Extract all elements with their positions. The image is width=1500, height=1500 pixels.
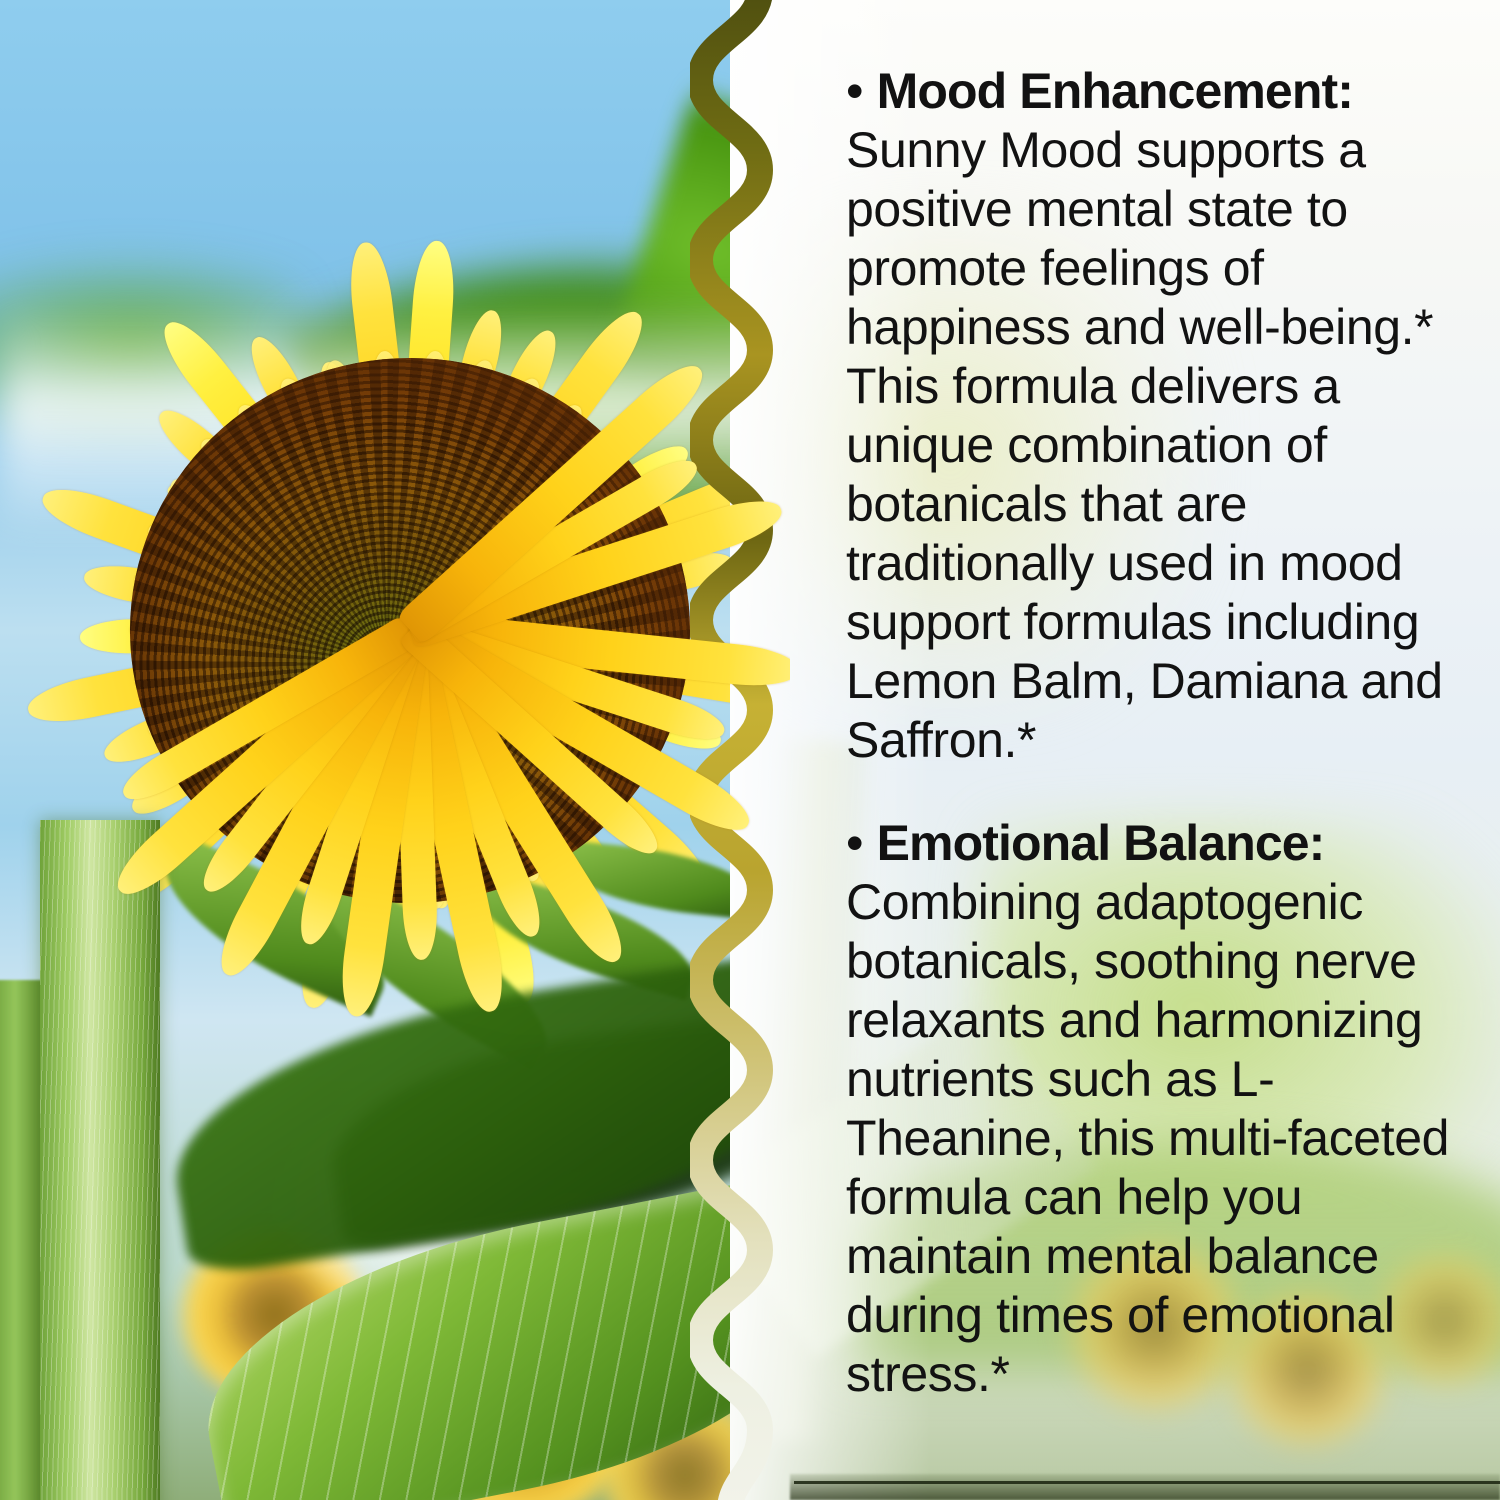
benefit-heading-separator: : — [1309, 815, 1325, 871]
product-benefits-image: • Mood Enhancement: Sunny Mood supports … — [0, 0, 1500, 1500]
benefit-heading: Emotional Balance — [877, 815, 1309, 871]
benefit-heading: Mood Enhancement — [877, 63, 1338, 119]
benefit-body: Sunny Mood supports a positive mental st… — [846, 122, 1443, 768]
benefit-paragraph: • Mood Enhancement: Sunny Mood supports … — [846, 62, 1466, 770]
bullet-glyph-icon: • — [846, 815, 863, 871]
benefits-content: • Mood Enhancement: Sunny Mood supports … — [846, 62, 1466, 1404]
bullet-glyph-icon: • — [846, 63, 863, 119]
sunflower-petal-ring-front — [0, 100, 790, 1160]
panel-bottom-rule — [794, 1481, 1500, 1484]
sunflower-photo-panel — [0, 0, 790, 1500]
benefit-heading-separator: : — [1337, 63, 1353, 119]
benefit-block-emotional-balance: • Emotional Balance: Combining adaptogen… — [846, 814, 1466, 1404]
benefit-block-mood-enhancement: • Mood Enhancement: Sunny Mood supports … — [846, 62, 1466, 770]
panel-bottom-bar — [790, 1474, 1500, 1500]
benefit-body: Combining adaptogenic botanicals, soothi… — [846, 874, 1449, 1402]
benefit-paragraph: • Emotional Balance: Combining adaptogen… — [846, 814, 1466, 1404]
